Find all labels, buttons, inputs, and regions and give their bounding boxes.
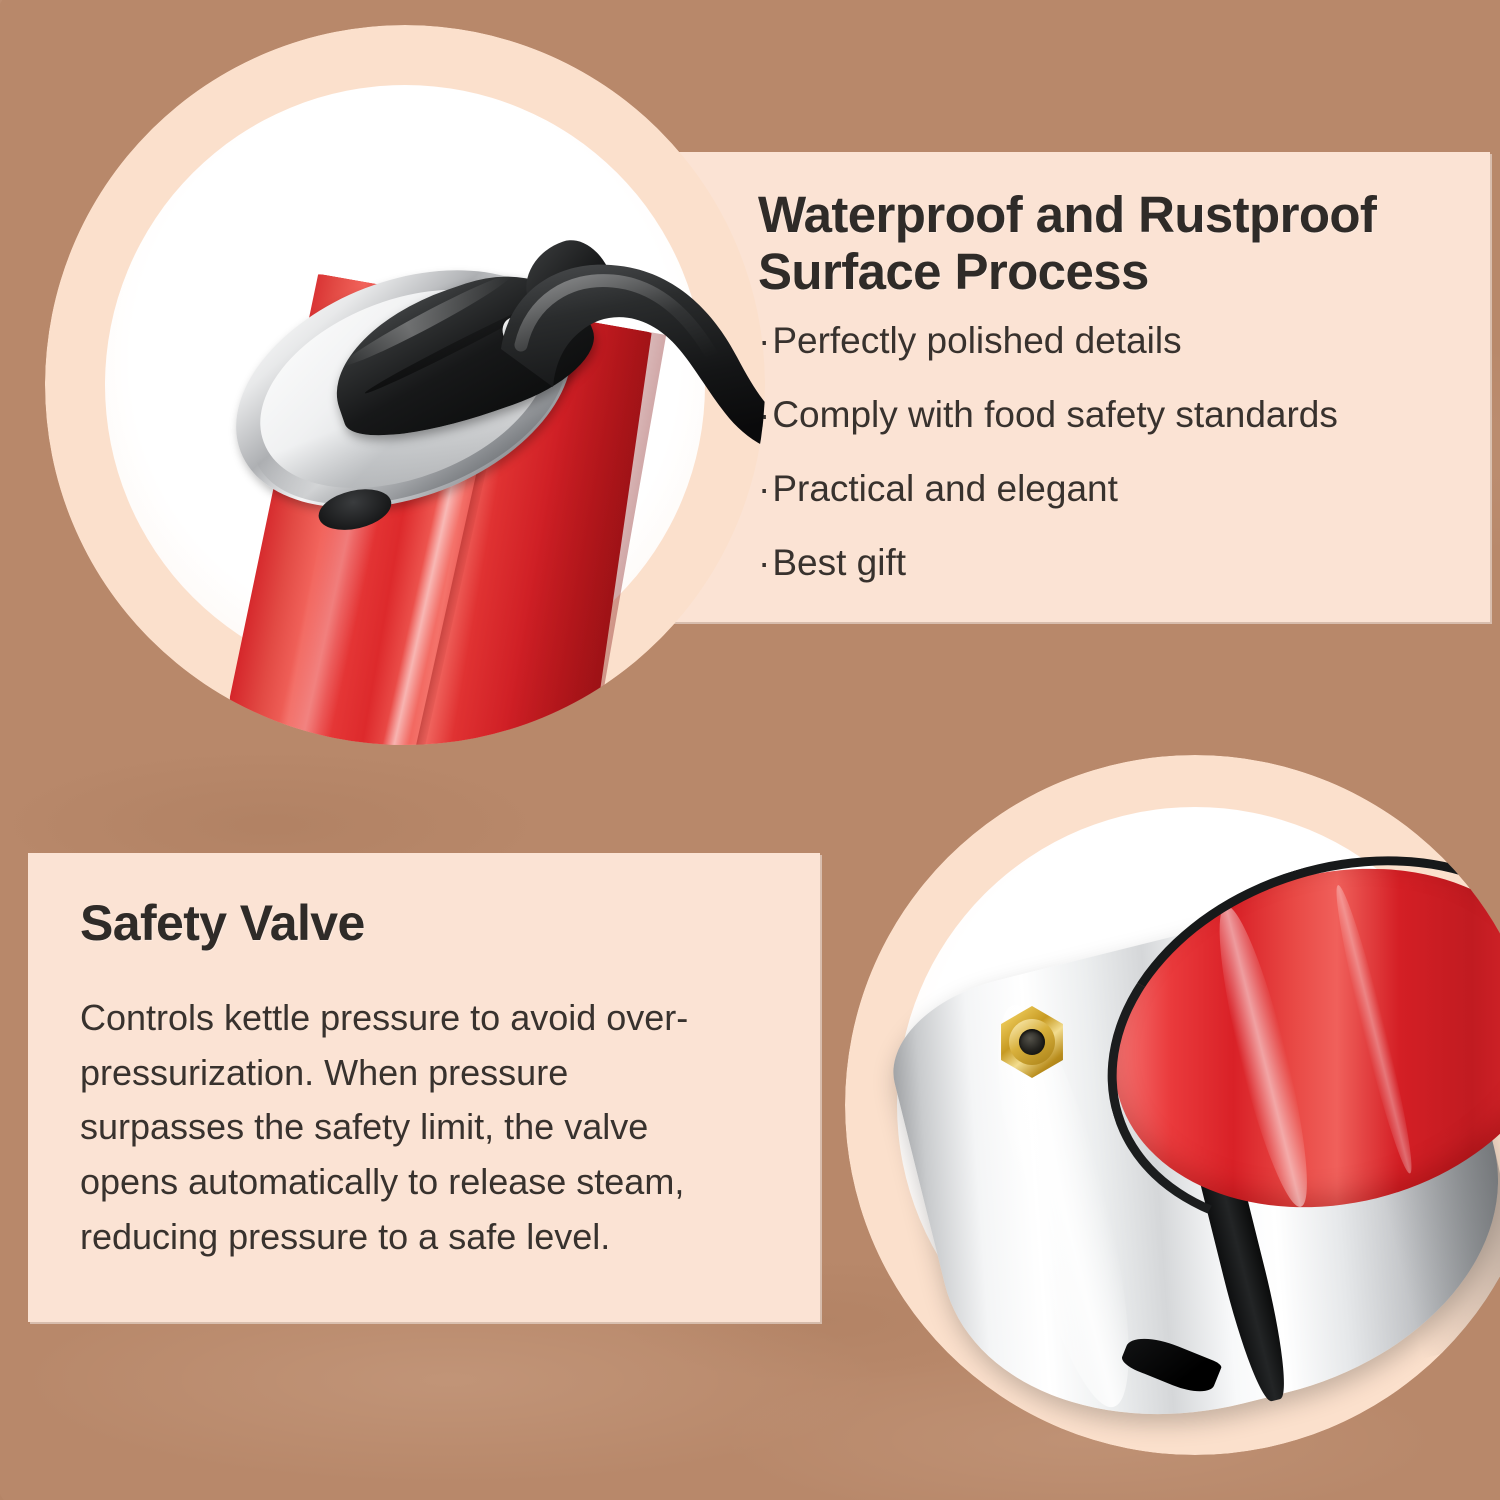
list-item-label: Perfectly polished details <box>772 320 1181 361</box>
list-item: ·Best gift <box>758 544 1488 581</box>
infographic-canvas: Waterproof and Rustproof Surface Process… <box>0 0 1500 1500</box>
valve-wrap <box>990 1000 1074 1084</box>
list-item: ·Perfectly polished details <box>758 322 1488 359</box>
kettle-base-illustration <box>897 807 1500 1455</box>
list-item-label: Comply with food safety standards <box>772 394 1338 435</box>
feature-bottom-body-text: Controls kettle pressure to avoid over-p… <box>80 991 720 1265</box>
list-item-label: Practical and elegant <box>772 468 1118 509</box>
kettle-black-handle <box>487 253 765 473</box>
list-item-label: Best gift <box>772 542 906 583</box>
list-item: ·Practical and elegant <box>758 470 1488 507</box>
feature-panel-waterproof: Waterproof and Rustproof Surface Process… <box>650 152 1490 622</box>
safety-valve-nut <box>990 1000 1074 1084</box>
photo-disc <box>105 85 705 685</box>
feature-top-bullet-list: ·Perfectly polished details ·Comply with… <box>758 322 1488 618</box>
feature-panel-safety-valve: Safety Valve Controls kettle pressure to… <box>28 853 820 1322</box>
photo-disc <box>897 807 1493 1403</box>
feature-bottom-heading: Safety Valve <box>80 895 720 951</box>
product-photo-kettle-lid <box>45 25 765 745</box>
valve-vent-hole <box>1019 1029 1045 1055</box>
product-photo-safety-valve <box>845 755 1500 1455</box>
handle-shape-icon <box>487 253 765 473</box>
feature-top-heading: Waterproof and Rustproof Surface Process <box>758 186 1478 300</box>
kettle-illustration <box>105 85 765 745</box>
list-item: ·Comply with food safety standards <box>758 396 1488 433</box>
kettle-red-lid <box>1078 823 1500 1253</box>
